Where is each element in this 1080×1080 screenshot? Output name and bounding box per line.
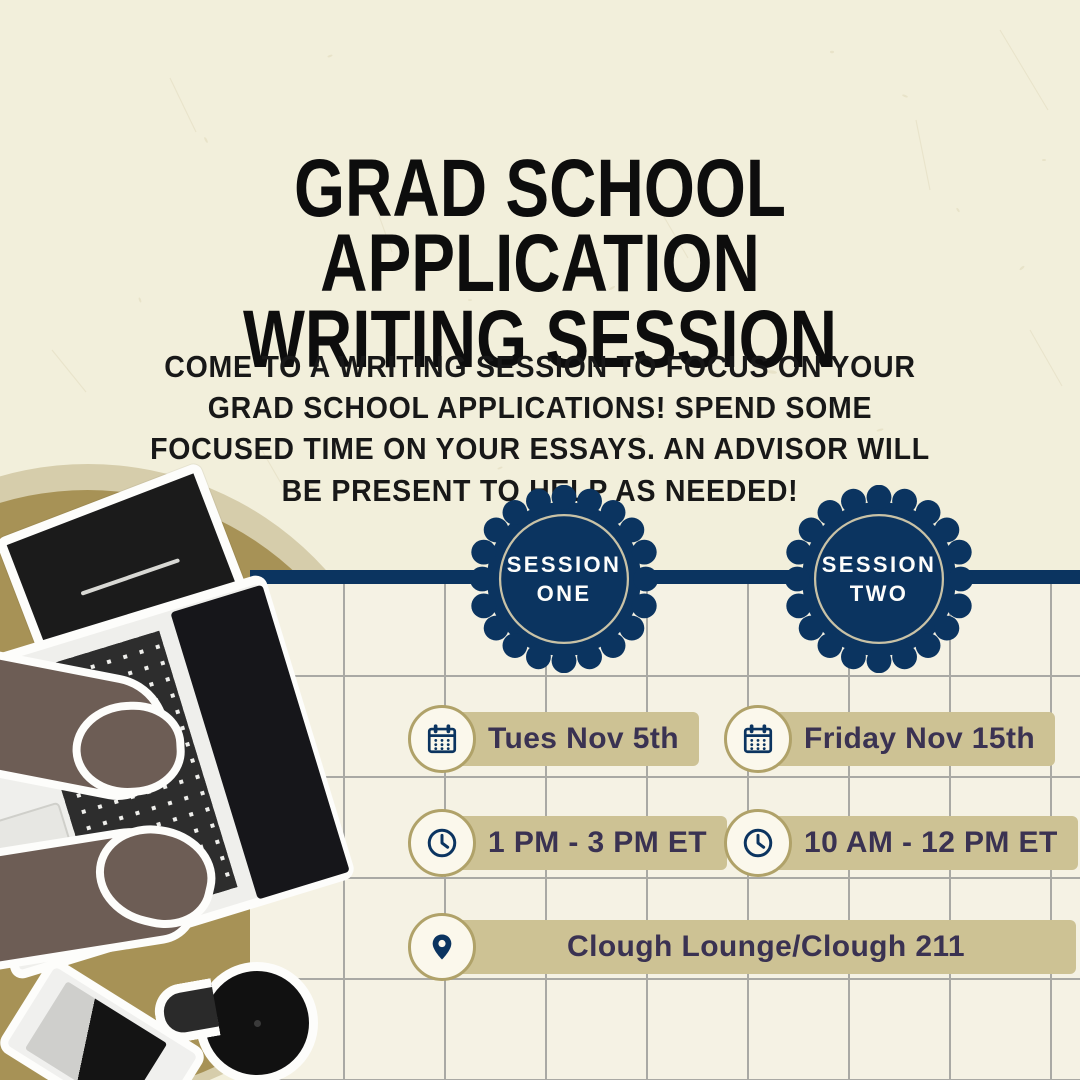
session-two-date-text: Friday Nov 15th — [804, 722, 1035, 756]
clock-icon — [408, 809, 476, 877]
coffee-mug-photo — [196, 962, 318, 1080]
clock-icon — [724, 809, 792, 877]
map-pin-icon — [408, 913, 476, 981]
badge-line-2: ONE — [537, 579, 592, 608]
badge-line-2: TWO — [850, 579, 909, 608]
location-row: Clough Lounge/Clough 211 — [408, 916, 1076, 978]
time-pill: 10 AM - 12 PM ET — [758, 816, 1078, 870]
session-one-label: SESSION ONE — [470, 485, 658, 673]
date-pill: Friday Nov 15th — [758, 712, 1055, 766]
page-title: GRAD SCHOOL APPLICATION WRITING SESSION — [108, 151, 972, 377]
tablet-highlight — [80, 558, 180, 596]
session-one-time-text: 1 PM - 3 PM ET — [488, 826, 707, 860]
calendar-icon — [724, 705, 792, 773]
session-one-date-text: Tues Nov 5th — [488, 722, 679, 756]
poster-canvas: GRAD SCHOOL APPLICATION WRITING SESSION … — [0, 0, 1080, 1080]
calendar-icon — [408, 705, 476, 773]
session-two-time-row: 10 AM - 12 PM ET — [724, 812, 1078, 874]
date-pill: Tues Nov 5th — [442, 712, 699, 766]
session-one-time-row: 1 PM - 3 PM ET — [408, 812, 727, 874]
session-one-badge: SESSION ONE — [470, 485, 658, 673]
badge-line-1: SESSION — [507, 550, 622, 579]
session-one-date-row: Tues Nov 5th — [408, 708, 699, 770]
location-text: Clough Lounge/Clough 211 — [567, 930, 965, 964]
location-pill: Clough Lounge/Clough 211 — [442, 920, 1076, 974]
session-two-badge: SESSION TWO — [785, 485, 973, 673]
mug-center — [254, 1020, 261, 1027]
session-two-time-text: 10 AM - 12 PM ET — [804, 826, 1058, 860]
session-two-label: SESSION TWO — [785, 485, 973, 673]
badge-line-1: SESSION — [822, 550, 937, 579]
time-pill: 1 PM - 3 PM ET — [442, 816, 727, 870]
title-line-1: GRAD SCHOOL APPLICATION — [294, 143, 786, 309]
session-two-date-row: Friday Nov 15th — [724, 708, 1055, 770]
